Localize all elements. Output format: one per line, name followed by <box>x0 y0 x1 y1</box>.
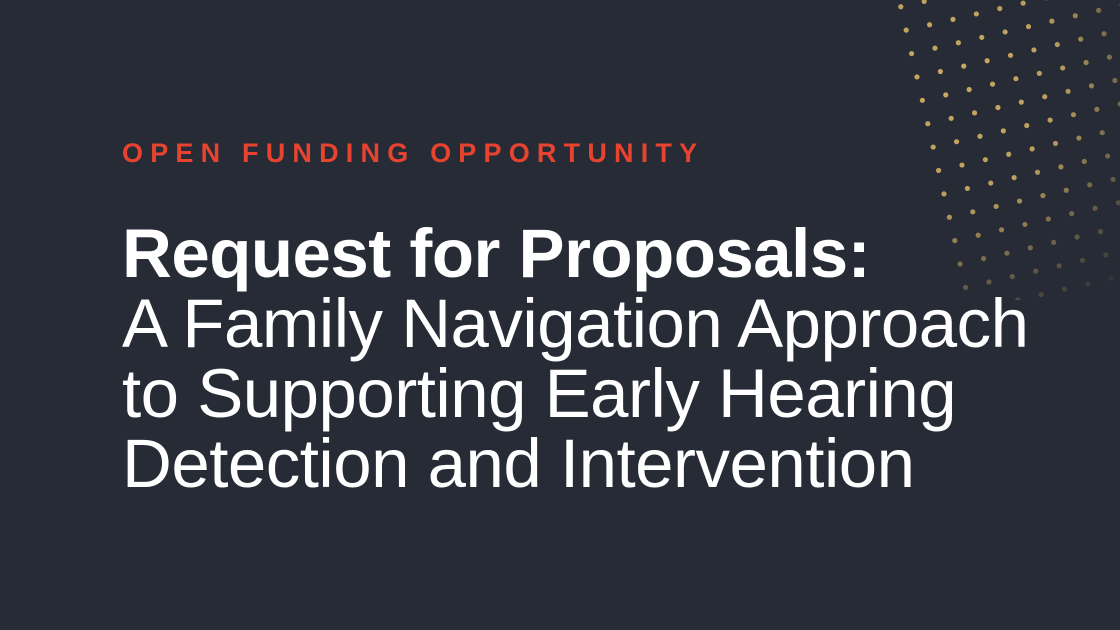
rfp-title-banner: OPEN FUNDING OPPORTUNITY Request for Pro… <box>0 0 1120 630</box>
page-title: Request for Proposals: A Family Navigati… <box>122 219 1052 499</box>
eyebrow-label: OPEN FUNDING OPPORTUNITY <box>122 140 1052 167</box>
headline-line-3: to Supporting Early Hearing <box>122 359 1052 429</box>
headline-line-1: Request for Proposals: <box>122 219 1052 289</box>
headline-line-2: A Family Navigation Approach <box>122 289 1052 359</box>
banner-content: OPEN FUNDING OPPORTUNITY Request for Pro… <box>122 140 1052 499</box>
headline-line-4: Detection and Intervention <box>122 429 1052 499</box>
